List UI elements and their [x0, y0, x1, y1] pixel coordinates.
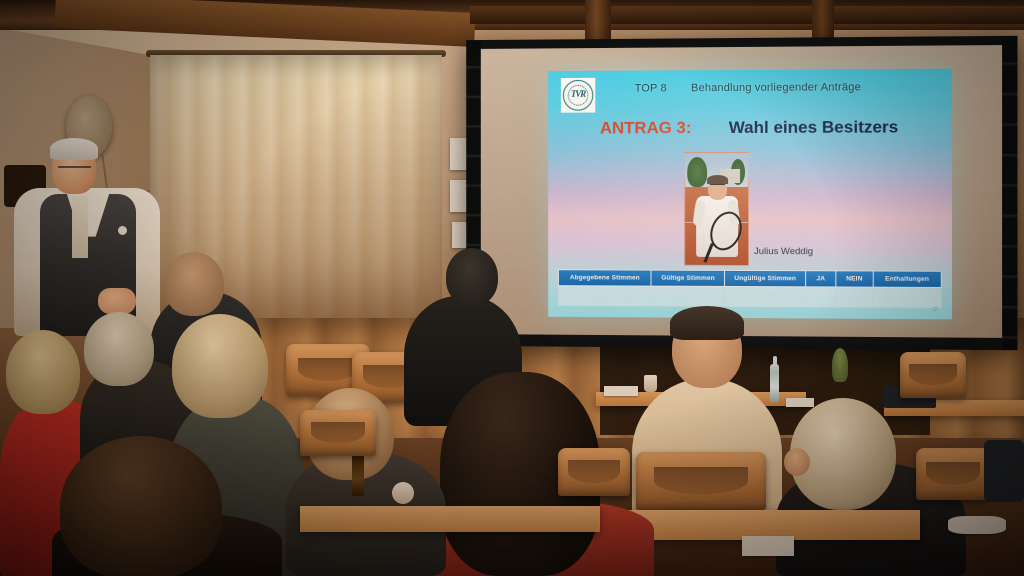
presenter-badge	[118, 226, 127, 235]
table-row	[558, 286, 941, 308]
chair	[900, 352, 966, 398]
screen-rail-right	[1002, 36, 1017, 350]
presentation-slide: TVR TOP 8 Behandlung vorliegender Anträg…	[548, 69, 952, 320]
projection-screen-surface: TVR TOP 8 Behandlung vorliegender Anträg…	[481, 45, 1002, 338]
chair	[300, 410, 376, 456]
meeting-room-photo: TVR TOP 8 Behandlung vorliegender Anträg…	[0, 0, 1024, 576]
slide-corner-mark: ♫	[932, 304, 938, 313]
table-cell	[651, 286, 724, 306]
candidate-name-caption: Julius Weddig	[754, 246, 813, 257]
projection-screen-frame: TVR TOP 8 Behandlung vorliegender Anträg…	[466, 36, 1017, 350]
slide-title-text: Wahl eines Besitzers	[729, 117, 899, 137]
table-header-cell: Abgegebene Stimmen	[558, 270, 651, 286]
water-bottle	[770, 364, 779, 402]
table-header-cell: JA	[806, 271, 836, 287]
papers	[786, 398, 814, 407]
table-cell	[725, 286, 806, 306]
presenter-hair	[50, 138, 98, 160]
slide-top-label: TOP 8	[635, 82, 667, 94]
table-header-cell: Gültige Stimmen	[651, 270, 724, 286]
chair	[916, 448, 990, 500]
slide-top-heading: Behandlung vorliegender Anträge	[691, 81, 861, 94]
table-header-cell: Ungültige Stimmen	[725, 270, 806, 286]
table-header-row: Abgegebene Stimmen Gültige Stimmen Ungül…	[558, 270, 941, 288]
photo-person-glasses-icon	[710, 184, 725, 188]
table-cell	[806, 287, 836, 307]
papers	[742, 536, 794, 556]
club-emblem-icon: TVR	[563, 80, 593, 111]
chair	[558, 448, 630, 496]
flower-vase	[832, 348, 848, 382]
presenter-shirt-front	[72, 196, 88, 258]
slide-agenda-line: TOP 8 Behandlung vorliegender Anträge	[635, 81, 861, 94]
ceiling-ridge-beam	[470, 6, 1024, 24]
club-logo: TVR	[561, 78, 595, 113]
photo-person-hair	[707, 175, 728, 184]
table-cell	[836, 287, 873, 307]
presenter-hands	[98, 288, 136, 314]
club-logo-monogram: TVR	[564, 89, 592, 99]
candidate-photo	[684, 152, 749, 266]
foreground-table	[300, 506, 600, 532]
papers	[604, 386, 638, 396]
chair	[636, 452, 766, 510]
plate	[948, 516, 1006, 534]
table-cell	[558, 286, 651, 306]
vote-result-table: Abgegebene Stimmen Gültige Stimmen Ungül…	[558, 269, 942, 308]
photo-tree	[687, 157, 707, 187]
glass	[392, 482, 414, 504]
bag	[984, 440, 1024, 502]
table-header-cell: NEIN	[836, 271, 873, 287]
slide-title-prefix: ANTRAG 3:	[600, 118, 692, 137]
presenter-glasses-icon	[58, 166, 91, 176]
slide-title: ANTRAG 3: Wahl eines Besitzers	[548, 117, 952, 138]
coffee-cup	[644, 375, 657, 392]
table-header-cell: Enthaltungen	[873, 271, 941, 287]
